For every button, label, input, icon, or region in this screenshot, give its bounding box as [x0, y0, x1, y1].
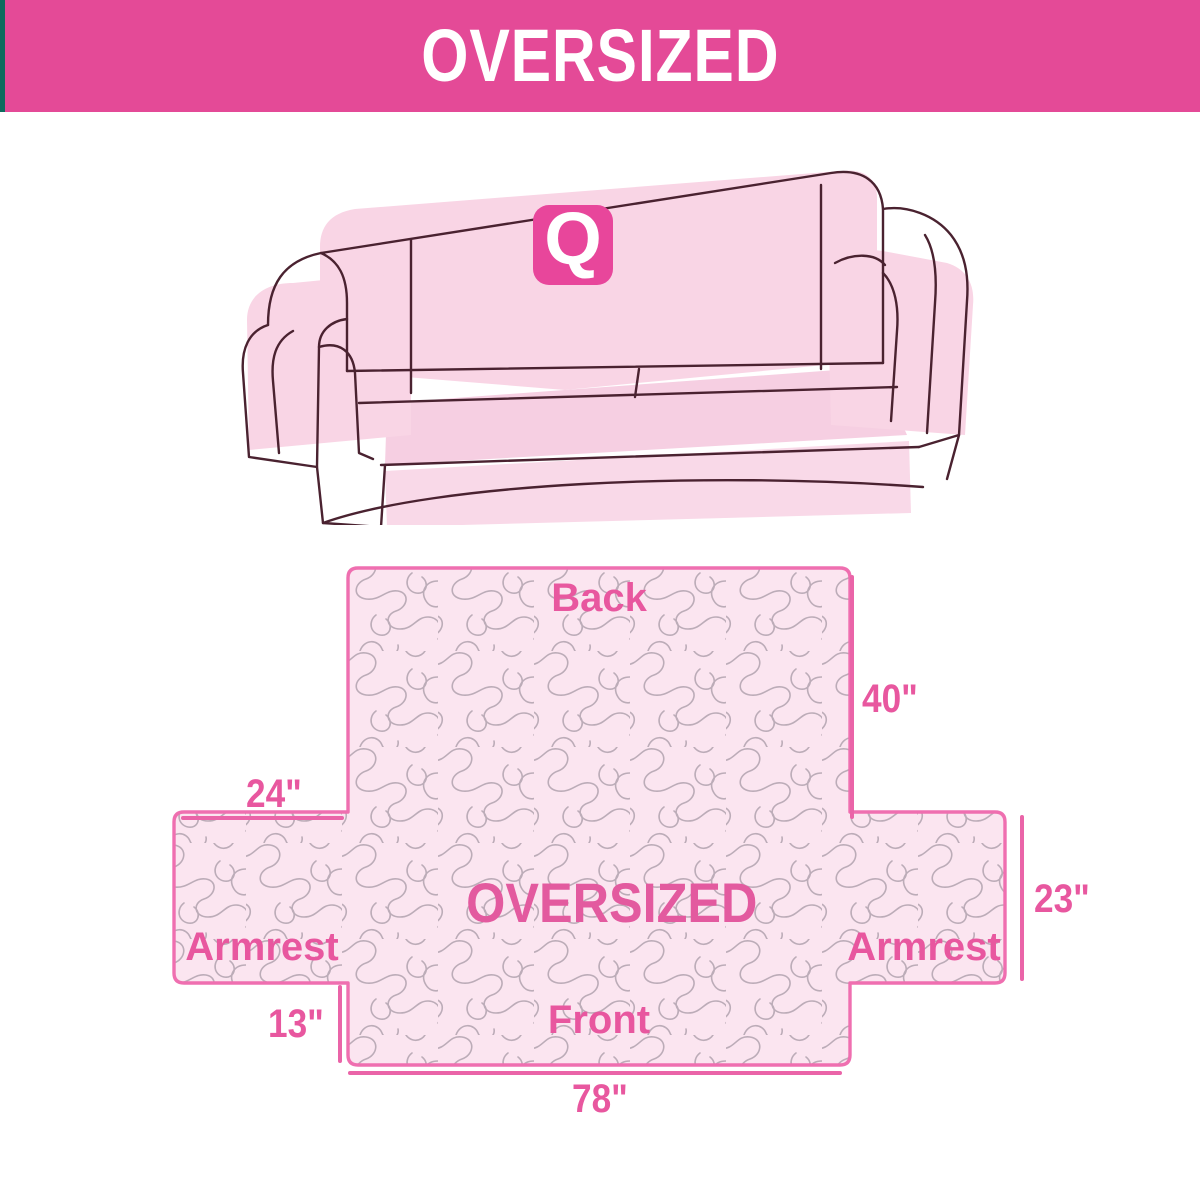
sofa-left-arm-fill	[247, 275, 411, 450]
panel-label-armrest-left: Armrest	[185, 925, 338, 969]
brand-logo-badge: Q	[533, 197, 613, 285]
dimension-label-back-height: 40"	[862, 677, 918, 722]
panel-label-front: Front	[548, 998, 650, 1042]
flat-layout-diagram: Back Front Armrest Armrest 40" 24" 23" 1…	[150, 555, 1110, 1135]
sofa-base-right	[947, 435, 959, 479]
dimension-label-total-width: 78"	[572, 1077, 628, 1122]
panel-label-armrest-right: Armrest	[847, 925, 1000, 969]
page-title: OVERSIZED	[421, 19, 779, 93]
header-accent-strip	[0, 0, 5, 112]
sofa-skirt-front-edge	[381, 465, 385, 525]
diagram-center-title: OVERSIZED	[466, 870, 757, 935]
header-banner: OVERSIZED	[0, 0, 1200, 112]
sofa-illustration: Q	[235, 135, 975, 525]
panel-label-back: Back	[551, 576, 647, 620]
dimension-label-front-drop: 13"	[268, 1002, 324, 1047]
dimension-label-armrest-height: 23"	[1034, 877, 1090, 922]
sofa-left-arm-front	[317, 467, 381, 525]
sofa-right-arm-fill	[827, 250, 973, 435]
dimension-label-armrest-top: 24"	[246, 772, 302, 817]
brand-logo-letter: Q	[544, 197, 602, 280]
